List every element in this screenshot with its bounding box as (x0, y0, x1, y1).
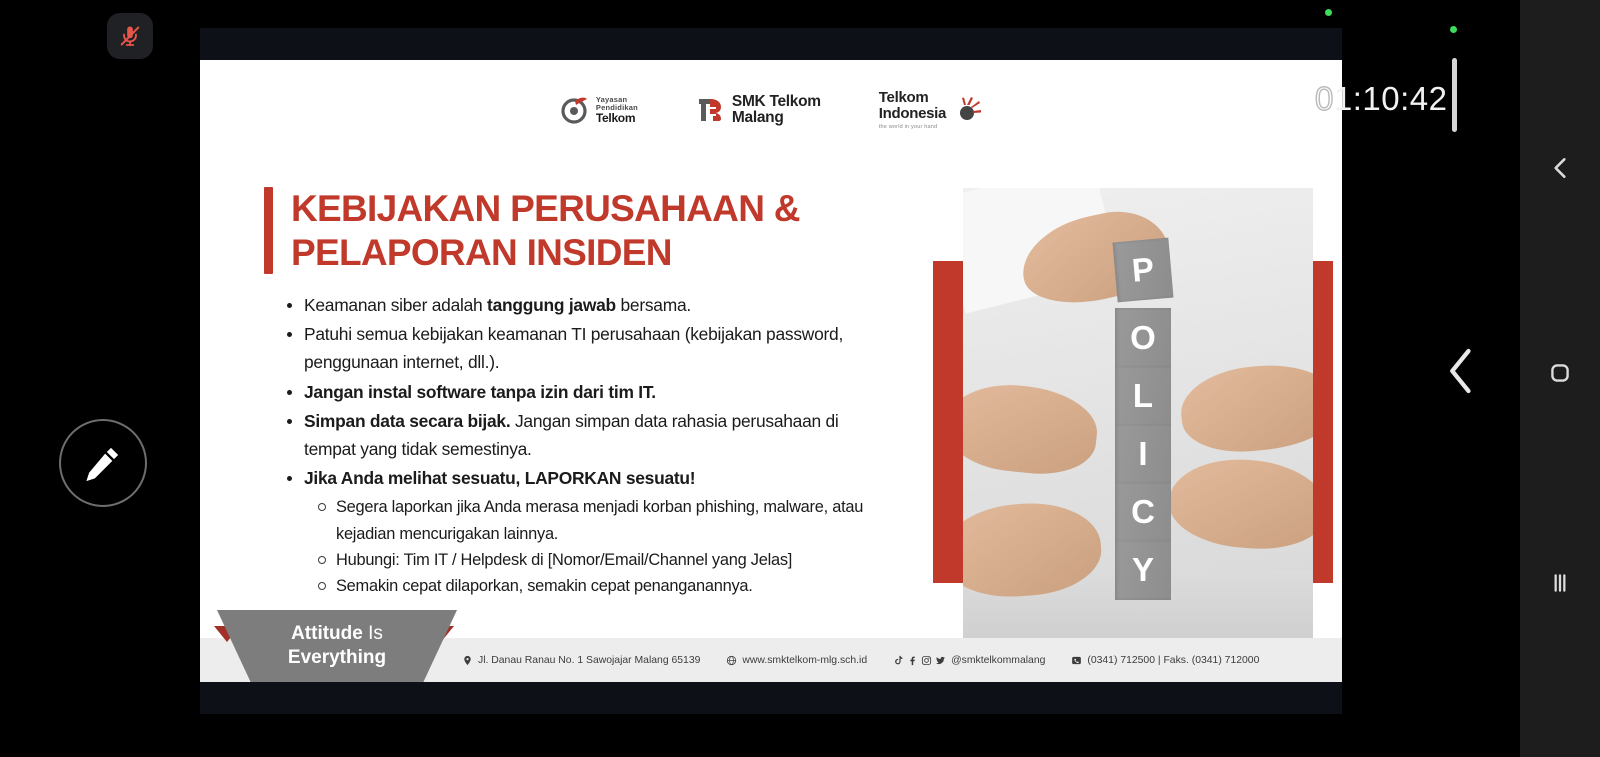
chevron-left-icon (1547, 155, 1573, 181)
bullet-0-bold: tanggung jawab (487, 295, 616, 315)
footer-address-text: Jl. Danau Ranau No. 1 Sawojajar Malang 6… (478, 655, 700, 666)
tiktok-icon (893, 655, 904, 666)
bullets-level-2: Segera laporkan jika Anda merasa menjadi… (314, 494, 892, 599)
photo-hand (1177, 358, 1313, 458)
timer-leading-zero: 0 (1315, 80, 1334, 117)
bullet-4-bold: Jika Anda melihat sesuatu, LAPORKAN sesu… (304, 468, 695, 488)
policy-blocks-photo: P O L I C Y (963, 188, 1313, 643)
footer-website: www.smktelkom-mlg.sch.id (726, 655, 867, 666)
list-item: Patuhi semua kebijakan keamanan TI perus… (282, 320, 892, 376)
list-item: Hubungi: Tim IT / Helpdesk di [Nomor/Ema… (314, 547, 892, 573)
slide-bullet-list: Keamanan siber adalah tanggung jawab ber… (282, 291, 892, 600)
location-pin-icon (462, 655, 473, 666)
photo-hand (1166, 455, 1313, 554)
list-item: Segera laporkan jika Anda merasa menjadi… (314, 494, 892, 547)
logo-smk-telkom-malang: SMK Telkom Malang (696, 94, 821, 126)
twitter-icon (935, 655, 946, 666)
bullet-0-pre: Keamanan siber adalah (304, 295, 487, 315)
policy-cube: P (1112, 238, 1173, 303)
microphone-muted-icon (117, 23, 143, 49)
policy-cube: C (1115, 482, 1171, 542)
policy-cube: Y (1115, 540, 1171, 600)
logo3-text: Telkom Indonesia (879, 90, 946, 121)
microphone-mute-button[interactable] (107, 13, 153, 59)
footer-phone: (0341) 712500 | Faks. (0341) 712000 (1071, 655, 1259, 666)
overlay-back-button[interactable] (1441, 336, 1481, 406)
phone-screen: Yayasan Pendidikan Telkom SMK Telkom Mal… (0, 0, 1600, 757)
instagram-icon (921, 655, 932, 666)
session-timer: 01:10:42 (1315, 80, 1447, 118)
policy-cube: L (1115, 366, 1171, 426)
policy-cube: I (1115, 424, 1171, 484)
title-accent-bar (264, 187, 273, 274)
logo3-tagline: the world in your hand (879, 124, 946, 130)
bullet-2-bold: Jangan instal software tanpa izin dari t… (304, 382, 656, 402)
list-item: Semakin cepat dilaporkan, semakin cepat … (314, 573, 892, 599)
edit-pencil-icon (83, 443, 123, 483)
list-item: Keamanan siber adalah tanggung jawab ber… (282, 291, 892, 319)
facebook-icon (907, 655, 918, 666)
yayasan-telkom-mark-icon (560, 95, 590, 125)
globe-icon (726, 655, 737, 666)
badge-word-2: Is (368, 623, 383, 644)
home-square-icon (1547, 360, 1573, 386)
badge-word-1: Attitude (291, 623, 363, 644)
chevron-left-icon (1446, 347, 1476, 395)
logo-row: Yayasan Pendidikan Telkom SMK Telkom Mal… (200, 84, 1342, 136)
footer-phone-text: (0341) 712500 | Faks. (0341) 712000 (1087, 655, 1259, 666)
timer-value: 1:10:42 (1334, 80, 1448, 117)
status-dot-recording (1325, 9, 1332, 16)
list-item: Jangan instal software tanpa izin dari t… (282, 378, 892, 406)
phone-icon (1071, 655, 1082, 666)
status-dot-camera (1450, 26, 1457, 33)
android-navigation-bar (1520, 0, 1600, 757)
logo1-line3: Telkom (596, 112, 638, 124)
footer-address: Jl. Danau Ranau No. 1 Sawojajar Malang 6… (462, 655, 700, 666)
annotate-pencil-button[interactable] (59, 419, 147, 507)
telkom-indonesia-mark-icon (952, 95, 982, 125)
slide-title: KEBIJAKAN PERUSAHAAN & PELAPORAN INSIDEN (291, 187, 800, 274)
nav-back-button[interactable] (1520, 138, 1600, 198)
presentation-slide: Yayasan Pendidikan Telkom SMK Telkom Mal… (200, 60, 1342, 682)
bullet-3-bold: Simpan data secara bijak. (304, 411, 510, 431)
attitude-is-everything-badge: Attitude Is Everything (217, 610, 457, 682)
footer-social-handle: @smktelkommalang (951, 655, 1045, 666)
photo-hand (963, 378, 1101, 479)
footer-social: @smktelkommalang (893, 655, 1045, 666)
recent-apps-icon (1547, 570, 1573, 596)
policy-cube: O (1115, 308, 1171, 368)
slide-title-block: KEBIJAKAN PERUSAHAAN & PELAPORAN INSIDEN (264, 187, 800, 274)
bullets-level-1: Keamanan siber adalah tanggung jawab ber… (282, 291, 892, 599)
logo-yayasan-pendidikan-telkom: Yayasan Pendidikan Telkom (560, 95, 638, 125)
nav-home-button[interactable] (1520, 343, 1600, 403)
list-item: Jika Anda melihat sesuatu, LAPORKAN sesu… (282, 464, 892, 599)
bullet-0-post: bersama. (616, 295, 691, 315)
list-item: Simpan data secara bijak. Jangan simpan … (282, 407, 892, 463)
footer-website-text: www.smktelkom-mlg.sch.id (742, 655, 867, 666)
slide-viewport[interactable]: Yayasan Pendidikan Telkom SMK Telkom Mal… (200, 28, 1342, 714)
vertical-scrollbar[interactable] (1452, 58, 1457, 132)
badge-word-3: Everything (288, 647, 386, 668)
logo-telkom-indonesia: Telkom Indonesia the world in your hand (879, 90, 982, 129)
smk-telkom-mark-icon (696, 95, 726, 125)
nav-recents-button[interactable] (1520, 553, 1600, 613)
logo2-text: SMK Telkom Malang (732, 94, 821, 126)
bullet-1-pre: Patuhi semua kebijakan keamanan TI perus… (304, 324, 843, 372)
